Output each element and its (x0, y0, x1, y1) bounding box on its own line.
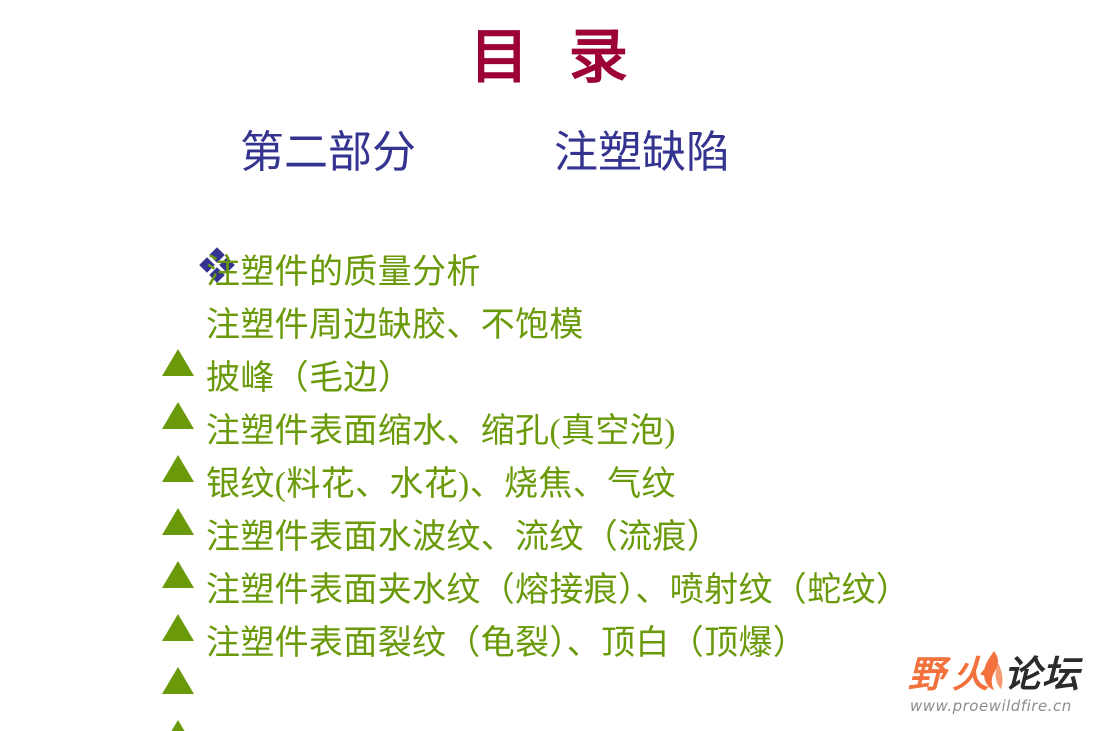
list-item[interactable]: 注塑件表面缩水、缩孔(真空泡) (156, 405, 1086, 458)
page-title: 目 录 (0, 22, 1101, 92)
green-triangle-bullet-icon (156, 574, 206, 608)
list-item[interactable]: 披峰（毛边） (156, 352, 1086, 405)
watermark-brand-row: 野 火 论坛 (908, 655, 1094, 700)
green-triangle-bullet-icon (156, 468, 206, 502)
watermark-url[interactable]: www.proewildfire.cn (910, 697, 1072, 715)
list-item-label: 注塑件的质量分析 (206, 251, 481, 295)
green-triangle-bullet-icon (156, 362, 206, 396)
flame-icon (980, 649, 1006, 693)
section-heading-part-two: 注塑缺陷 (554, 125, 730, 181)
watermark-logo[interactable]: 野 火 论坛 www.proewildfire.cn (908, 655, 1094, 725)
list-item[interactable]: 注塑件表面夹水纹（熔接痕）、喷射纹（蛇纹） (156, 564, 1086, 617)
watermark-brand-char-one: 野 (908, 653, 946, 697)
list-item[interactable]: 注塑件周边缺胶、不饱模 (156, 299, 1086, 352)
watermark-brand-chars-three: 论坛 (1004, 653, 1080, 697)
section-heading-part-one: 第二部分 (240, 125, 416, 181)
green-triangle-bullet-icon (156, 415, 206, 449)
list-item-label: 注塑件表面缩水、缩孔(真空泡) (206, 410, 676, 454)
diamond-cluster-bullet-icon (198, 131, 238, 175)
list-item-label: 注塑件表面水波纹、流纹（流痕） (206, 516, 721, 560)
list-item-label: 披峰（毛边） (206, 357, 412, 401)
outline-list: 注塑件的质量分析 注塑件周边缺胶、不饱模 披峰（毛边） (156, 246, 1086, 670)
green-triangle-bullet-icon (156, 309, 206, 343)
green-triangle-bullet-icon (156, 256, 206, 290)
list-item[interactable]: 注塑件的质量分析 (156, 246, 1086, 299)
green-triangle-bullet-icon (156, 521, 206, 555)
list-item[interactable]: 注塑件表面水波纹、流纹（流痕） (156, 511, 1086, 564)
section-heading: 第二部分 注塑缺陷 (198, 125, 730, 181)
list-item-label: 注塑件表面夹水纹（熔接痕）、喷射纹（蛇纹） (206, 569, 910, 613)
green-triangle-bullet-icon (156, 627, 206, 661)
list-item[interactable]: 银纹(料花、水花)、烧焦、气纹 (156, 458, 1086, 511)
list-item-label: 注塑件周边缺胶、不饱模 (206, 304, 584, 348)
list-item-label: 银纹(料花、水花)、烧焦、气纹 (206, 463, 676, 507)
list-item-label: 注塑件表面裂纹（龟裂）、顶白（顶爆） (206, 622, 807, 666)
presentation-slide: 目 录 第二部分 注塑缺陷 注塑件的质量分析 (0, 0, 1101, 731)
